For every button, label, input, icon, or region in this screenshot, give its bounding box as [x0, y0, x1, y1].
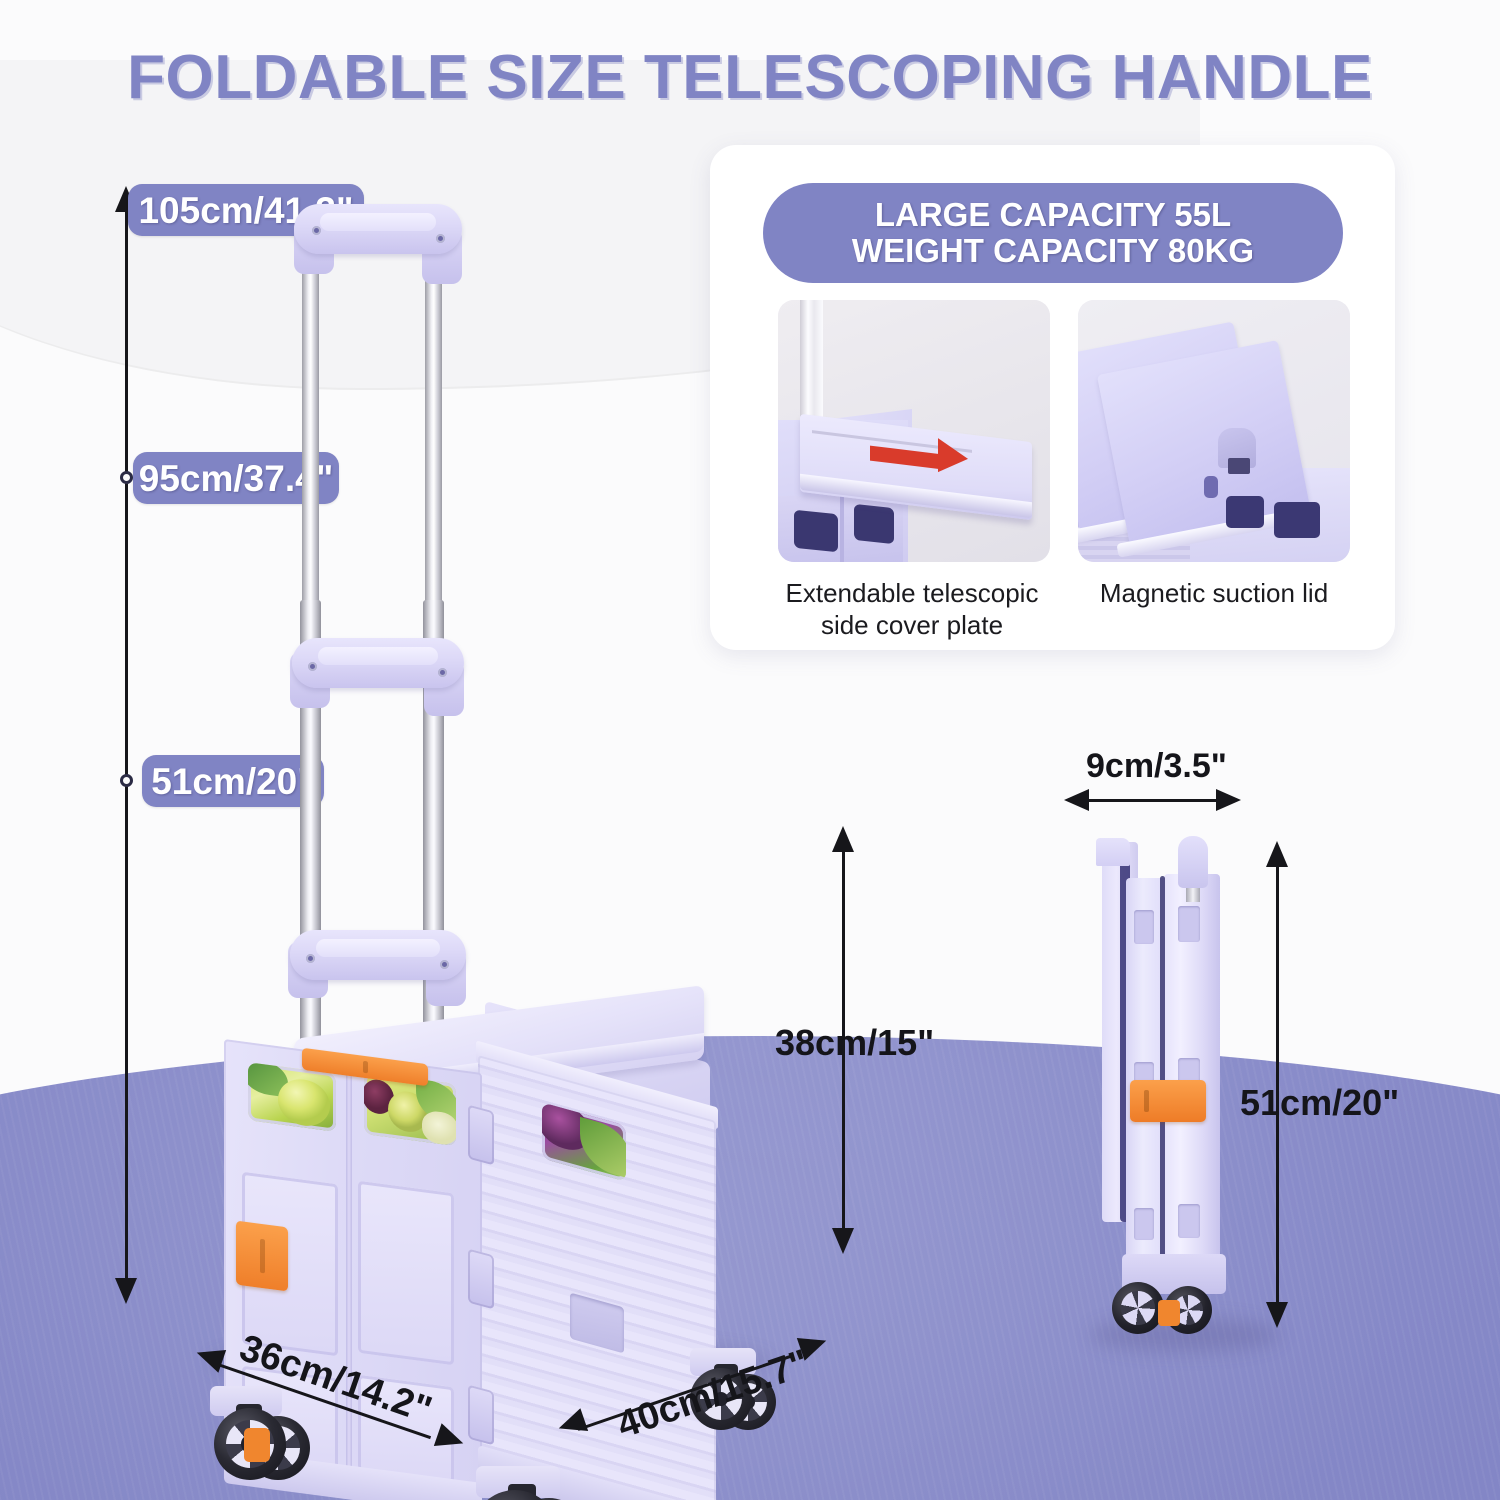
- height-tick-95: [120, 471, 133, 484]
- door-recess-panel: [358, 1181, 454, 1366]
- page-title: FOLDABLE SIZE TELESCOPING HANDLE: [0, 42, 1500, 113]
- capacity-badge: LARGE CAPACITY 55L WEIGHT CAPACITY 80KG: [763, 183, 1343, 283]
- handle-grip-low: [290, 930, 466, 980]
- handle-rivet-icon: [306, 954, 315, 963]
- door-center-seam: [346, 1062, 352, 1483]
- label-folded-height: 51cm/20": [1240, 1082, 1399, 1124]
- folded-height-arrow-down: [1266, 1302, 1288, 1328]
- handle-rivet-icon: [436, 234, 445, 243]
- handle-rivet-icon: [440, 960, 449, 969]
- inset-2-window-b: [1274, 502, 1320, 538]
- folded-orange-latch: [1130, 1080, 1206, 1122]
- inset-2-window-c: [1204, 476, 1218, 498]
- cauliflower-graphic: [422, 1110, 456, 1146]
- handle-grip-low-inlay: [316, 939, 440, 957]
- inset-1-door-seam: [840, 496, 844, 562]
- folded-thickness-line: [1083, 799, 1223, 802]
- label-cart-height: 38cm/15": [775, 1022, 934, 1064]
- infographic-canvas: FOLDABLE SIZE TELESCOPING HANDLE 105cm/4…: [0, 0, 1500, 1500]
- folded-top-hook: [1096, 838, 1130, 866]
- inset-caption-1-line-2: side cover plate: [768, 610, 1056, 642]
- corner-hinge: [468, 1249, 494, 1310]
- folded-notch: [1134, 1208, 1154, 1240]
- handle-rivet-icon: [308, 662, 317, 671]
- inset-photo-magnetic-lid: [1078, 300, 1350, 562]
- handle-grip-mid-inlay: [318, 647, 438, 665]
- inset-1-window-b: [854, 504, 894, 544]
- height-axis-arrow-down: [115, 1278, 137, 1304]
- folded-notch: [1134, 910, 1154, 944]
- inset-caption-side-cover-plate: Extendable telescopic side cover plate: [768, 578, 1056, 641]
- handle-grip-top-inlay: [320, 213, 436, 231]
- handle-rivet-icon: [312, 226, 321, 235]
- folded-wheel-bracket: [1158, 1300, 1180, 1326]
- pear-graphic: [278, 1076, 330, 1129]
- inset-caption-2-line-1: Magnetic suction lid: [1070, 578, 1358, 610]
- corner-hinge: [468, 1105, 494, 1166]
- cart-height-arrow-down: [832, 1228, 854, 1254]
- inset-photo-side-cover-plate: [778, 300, 1050, 562]
- height-axis-line: [125, 205, 128, 1295]
- folded-handle-tip: [1178, 836, 1208, 888]
- folded-wheel-a: [1112, 1282, 1164, 1334]
- folded-notch: [1178, 1204, 1200, 1238]
- folded-thickness-arrow-left: [1064, 789, 1089, 811]
- inset-caption-1-line-1: Extendable telescopic: [768, 578, 1056, 610]
- folded-thickness-arrow-right: [1216, 789, 1241, 811]
- label-folded-thickness: 9cm/3.5": [1086, 747, 1227, 786]
- capacity-line-1: LARGE CAPACITY 55L: [875, 197, 1231, 233]
- inset-1-window-a: [794, 510, 838, 553]
- inset-2-window-a: [1226, 496, 1264, 528]
- capacity-line-2: WEIGHT CAPACITY 80KG: [852, 233, 1254, 269]
- cart-height-arrow-up: [832, 826, 854, 852]
- handle-grip-mid: [292, 638, 464, 688]
- orange-latch-side: [236, 1221, 288, 1292]
- inset-caption-magnetic-lid: Magnetic suction lid: [1070, 578, 1358, 610]
- folded-notch: [1178, 906, 1200, 942]
- handle-grip-top: [294, 204, 462, 254]
- green-leaf-graphic: [580, 1117, 626, 1179]
- height-tick-51: [120, 774, 133, 787]
- red-arrow-head-icon: [938, 438, 968, 476]
- corner-hinge: [468, 1385, 494, 1446]
- inset-2-hinge-clip: [1228, 458, 1250, 474]
- folded-height-arrow-up: [1266, 841, 1288, 867]
- folded-center-seam: [1160, 876, 1165, 1262]
- handle-rivet-icon: [438, 668, 447, 677]
- produce-window-left-a: [248, 1062, 336, 1132]
- wheel-orange-bracket: [244, 1428, 270, 1462]
